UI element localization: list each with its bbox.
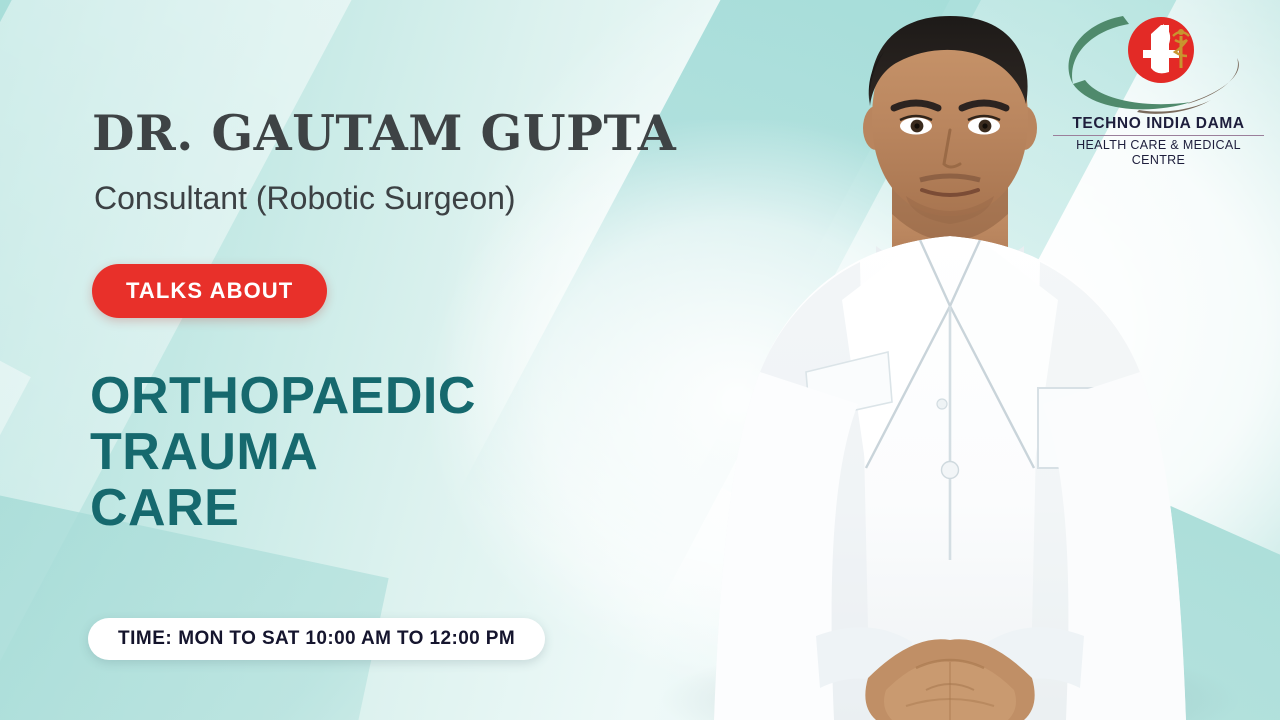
headline-line-3: CARE [90,480,476,536]
talks-about-label: TALKS ABOUT [126,278,293,304]
logo-name: TECHNO INDIA DAMA [1051,115,1266,133]
hospital-logo: TECHNO INDIA DAMA HEALTH CARE & MEDICAL … [1051,10,1266,160]
time-bar: TIME: MON TO SAT 10:00 AM TO 12:00 PM [88,618,545,660]
logo-text-block: TECHNO INDIA DAMA HEALTH CARE & MEDICAL … [1051,115,1266,168]
talks-about-badge: TALKS ABOUT [92,264,327,318]
time-value: MON TO SAT 10:00 AM TO 12:00 PM [178,628,515,650]
logo-emblem-icon [1051,10,1266,120]
headline-line-2: TRAUMA [90,424,476,480]
logo-divider [1053,135,1264,137]
headline-line-1: ORTHOPAEDIC [90,368,476,424]
doctor-name: DR. GAUTAM GUPTA [92,104,676,162]
topic-headline: ORTHOPAEDIC TRAUMA CARE [90,368,476,536]
time-label: TIME: [118,628,172,650]
logo-subtitle: HEALTH CARE & MEDICAL CENTRE [1051,138,1266,168]
poster-canvas: t [0,0,1280,720]
doctor-role: Consultant (Robotic Surgeon) [94,180,516,217]
